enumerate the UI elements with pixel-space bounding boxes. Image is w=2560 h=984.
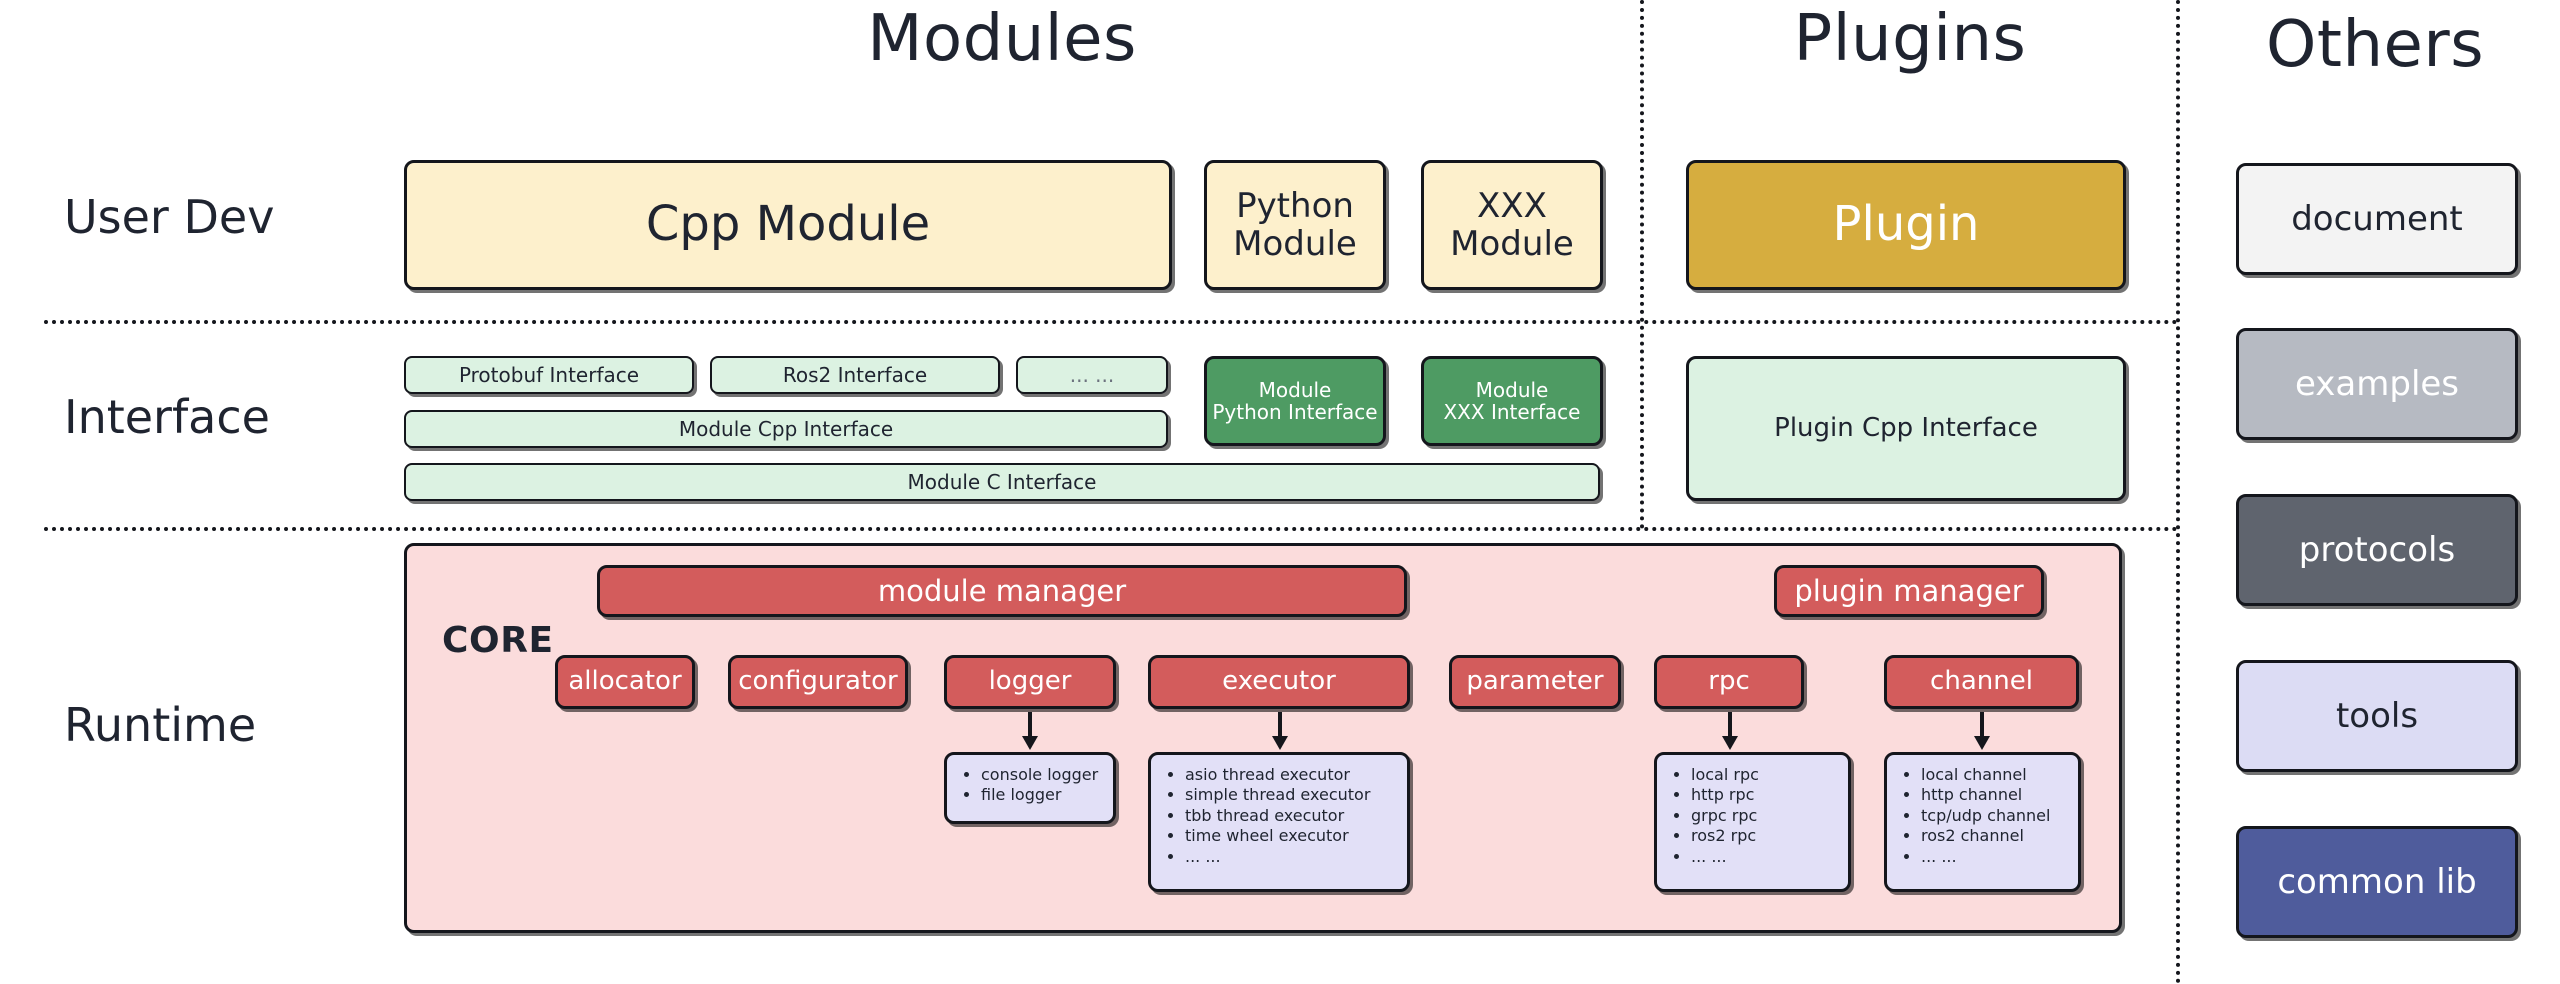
box-cpp-module[interactable]: Cpp Module (404, 160, 1172, 290)
list-item: ros2 rpc (1691, 826, 1842, 846)
list-item: ... ... (1691, 847, 1842, 867)
list-item: local rpc (1691, 765, 1842, 785)
logger-children-list: console logger file logger (957, 765, 1107, 806)
box-parameter[interactable]: parameter (1449, 655, 1621, 709)
box-channel[interactable]: channel (1884, 655, 2079, 709)
list-item: tcp/udp channel (1921, 806, 2072, 826)
list-item: local channel (1921, 765, 2072, 785)
row-label-runtime: Runtime (64, 698, 256, 752)
column-title-modules: Modules (404, 2, 1600, 76)
architecture-diagram: Modules Plugins Others User Dev Interfac… (0, 0, 2560, 984)
box-plugin-manager[interactable]: plugin manager (1774, 565, 2044, 617)
divider-plugins-others (2176, 0, 2180, 984)
box-plugin-cpp-interface[interactable]: Plugin Cpp Interface (1686, 356, 2126, 501)
list-item: time wheel executor (1185, 826, 1401, 846)
list-item: ... ... (1185, 847, 1401, 867)
list-item: ... ... (1921, 847, 2072, 867)
column-title-plugins: Plugins (1660, 2, 2160, 76)
box-rpc[interactable]: rpc (1654, 655, 1804, 709)
box-executor[interactable]: executor (1148, 655, 1410, 709)
box-xxx-module[interactable]: XXX Module (1421, 160, 1603, 290)
divider-userdev-interface (44, 320, 2179, 324)
box-plugin[interactable]: Plugin (1686, 160, 2126, 290)
list-item: asio thread executor (1185, 765, 1401, 785)
box-ros2-interface[interactable]: Ros2 Interface (710, 356, 1000, 394)
list-item: console logger (981, 765, 1107, 785)
list-item: tbb thread executor (1185, 806, 1401, 826)
list-item: http channel (1921, 785, 2072, 805)
list-item: http rpc (1691, 785, 1842, 805)
executor-children-list: asio thread executor simple thread execu… (1161, 765, 1401, 867)
box-configurator[interactable]: configurator (728, 655, 908, 709)
list-item: grpc rpc (1691, 806, 1842, 826)
box-common-lib[interactable]: common lib (2236, 826, 2518, 938)
core-label: CORE (442, 620, 554, 661)
listbox-channel: local channel http channel tcp/udp chann… (1884, 752, 2081, 892)
listbox-rpc: local rpc http rpc grpc rpc ros2 rpc ...… (1654, 752, 1851, 892)
list-item: simple thread executor (1185, 785, 1401, 805)
channel-children-list: local channel http channel tcp/udp chann… (1897, 765, 2072, 867)
listbox-logger: console logger file logger (944, 752, 1116, 824)
box-module-cpp-interface[interactable]: Module Cpp Interface (404, 410, 1168, 448)
box-module-manager[interactable]: module manager (597, 565, 1407, 617)
box-module-python-interface[interactable]: Module Python Interface (1204, 356, 1386, 446)
arrow-down-rpc-icon (1716, 712, 1744, 750)
box-protobuf-interface[interactable]: Protobuf Interface (404, 356, 694, 394)
box-protocols[interactable]: protocols (2236, 494, 2518, 606)
divider-modules-plugins (1640, 0, 1644, 529)
row-label-interface: Interface (64, 390, 270, 444)
listbox-executor: asio thread executor simple thread execu… (1148, 752, 1410, 892)
arrow-down-channel-icon (1968, 712, 1996, 750)
box-python-module[interactable]: Python Module (1204, 160, 1386, 290)
box-logger[interactable]: logger (944, 655, 1116, 709)
box-examples[interactable]: examples (2236, 328, 2518, 440)
list-item: ros2 channel (1921, 826, 2072, 846)
rpc-children-list: local rpc http rpc grpc rpc ros2 rpc ...… (1667, 765, 1842, 867)
box-tools[interactable]: tools (2236, 660, 2518, 772)
box-ellipsis-interface[interactable]: ... ... (1016, 356, 1168, 394)
box-document[interactable]: document (2236, 163, 2518, 275)
divider-interface-runtime (44, 527, 2179, 531)
list-item: file logger (981, 785, 1107, 805)
box-allocator[interactable]: allocator (555, 655, 695, 709)
row-label-user-dev: User Dev (64, 190, 274, 244)
column-title-others: Others (2195, 8, 2555, 82)
box-module-xxx-interface[interactable]: Module XXX Interface (1421, 356, 1603, 446)
arrow-down-executor-icon (1266, 712, 1294, 750)
box-module-c-interface[interactable]: Module C Interface (404, 463, 1600, 501)
arrow-down-logger-icon (1016, 712, 1044, 750)
